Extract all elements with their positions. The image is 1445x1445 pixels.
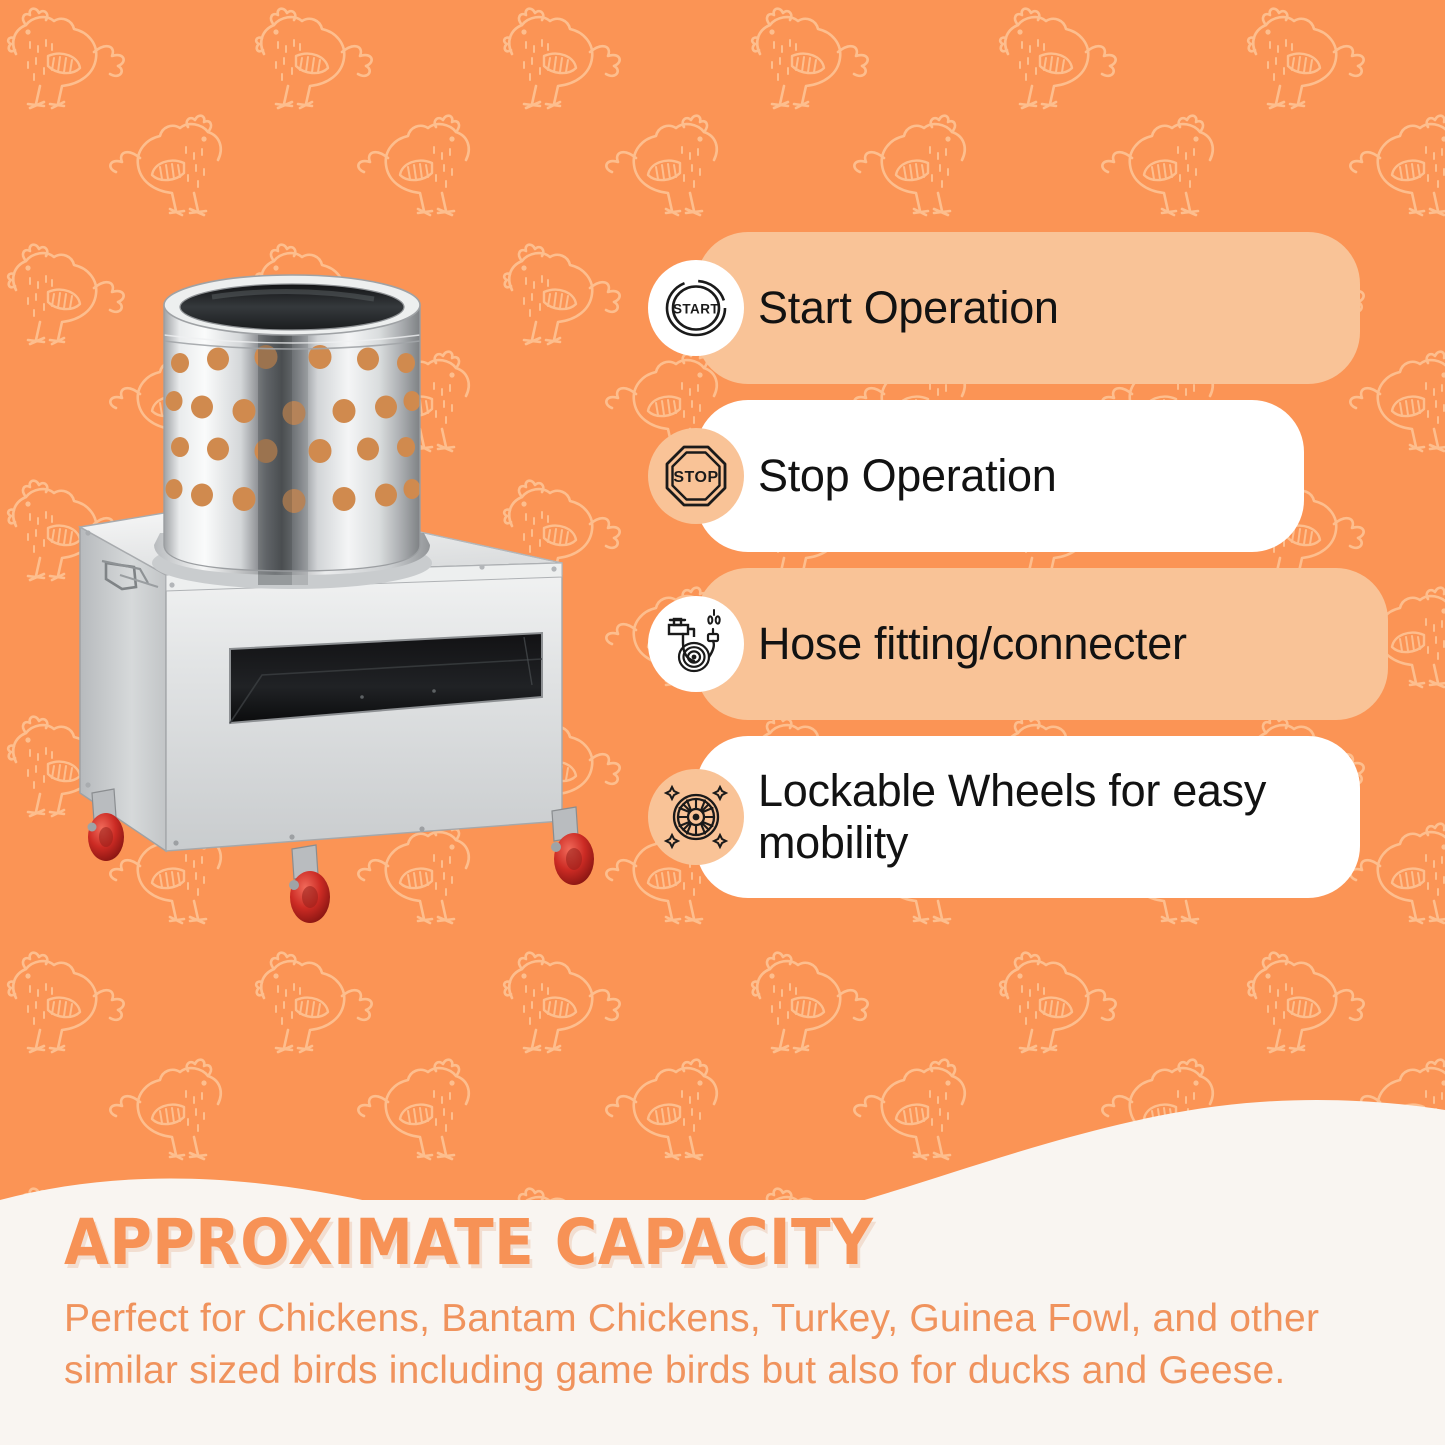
wave-divider (0, 1040, 1445, 1220)
start-badge-icon: START (648, 260, 744, 356)
infographic-canvas: START Start Operation STOP Stop Operatio… (0, 0, 1445, 1445)
feature-row-lockable-wheels[interactable]: Lockable Wheels for easy mobility (648, 736, 1408, 898)
feature-row-stop-operation[interactable]: STOP Stop Operation (648, 400, 1408, 552)
feature-row-start-operation[interactable]: START Start Operation (648, 232, 1408, 384)
feature-label: Start Operation (758, 282, 1083, 334)
hose-faucet-icon (648, 596, 744, 692)
feature-label: Hose fitting/connecter (758, 618, 1211, 670)
feature-label: Stop Operation (758, 450, 1081, 502)
svg-text:START: START (673, 302, 719, 317)
svg-text:STOP: STOP (673, 469, 718, 486)
product-image-chicken-plucker (62, 245, 622, 945)
capacity-block: APPROXIMATE CAPACITY Perfect for Chicken… (64, 1206, 1384, 1398)
feature-list: START Start Operation STOP Stop Operatio… (648, 232, 1408, 914)
capacity-heading: APPROXIMATE CAPACITY (64, 1206, 1278, 1279)
capacity-body-text: Perfect for Chickens, Bantam Chickens, T… (64, 1293, 1334, 1398)
feature-row-hose-fitting[interactable]: Hose fitting/connecter (648, 568, 1408, 720)
feature-label: Lockable Wheels for easy mobility (758, 765, 1408, 869)
stop-sign-icon: STOP (648, 428, 744, 524)
lockable-wheel-icon (648, 769, 744, 865)
